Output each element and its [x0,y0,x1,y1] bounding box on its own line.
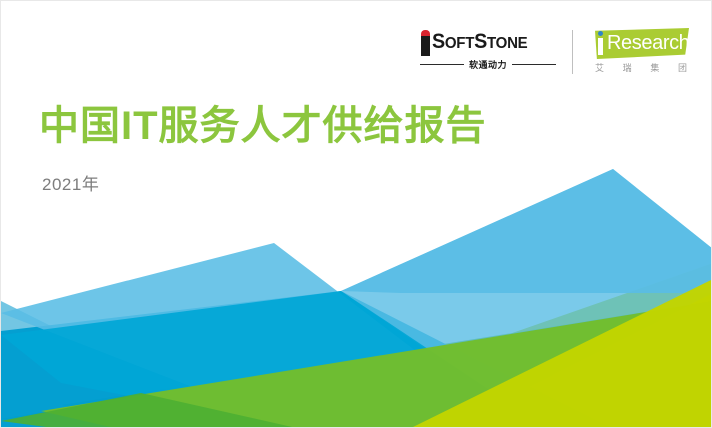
isoftstone-s2: S [474,30,487,53]
logo-isoftstone: SOFTSTONE 软通动力 [420,28,556,76]
page-title: 中国IT服务人才供给报告 [39,101,487,151]
iresearch-wordmark-text: Research [607,32,689,55]
isoftstone-i-stem-icon [421,36,430,56]
isoftstone-s1: S [432,30,445,53]
isoftstone-subtitle-cn: 软通动力 [469,58,507,71]
isoftstone-wordmark-text: SOFTSTONE [432,30,527,56]
isoftstone-tone: TONE [487,35,527,52]
iresearch-sub-char-3: 集 [650,61,659,74]
page-subtitle-year: 2021年 [42,173,99,197]
iresearch-i-dot-icon [598,31,603,36]
isoftstone-oft: OFT [445,35,474,52]
logo-iresearch: Research 艾 瑞 集 团 [589,28,689,76]
isoftstone-wordmark: SOFTSTONE [420,30,534,56]
report-cover-slide: SOFTSTONE 软通动力 Research 艾 瑞 集 团 中国IT服务人才… [0,0,712,428]
isoftstone-rule-left [420,64,464,66]
iresearch-i-stem-icon [598,38,603,55]
isoftstone-subtitle-row: 软通动力 [420,58,556,71]
logo-divider [572,30,573,74]
iresearch-sub-char-2: 瑞 [623,61,632,74]
isoftstone-i-mark-icon [420,30,431,56]
iresearch-subtitle-cn: 艾 瑞 集 团 [595,61,687,74]
iresearch-sub-char-1: 艾 [595,61,604,74]
iresearch-sub-char-4: 团 [678,61,687,74]
logo-bar: SOFTSTONE 软通动力 Research 艾 瑞 集 团 [420,28,689,76]
isoftstone-rule-right [512,64,556,66]
